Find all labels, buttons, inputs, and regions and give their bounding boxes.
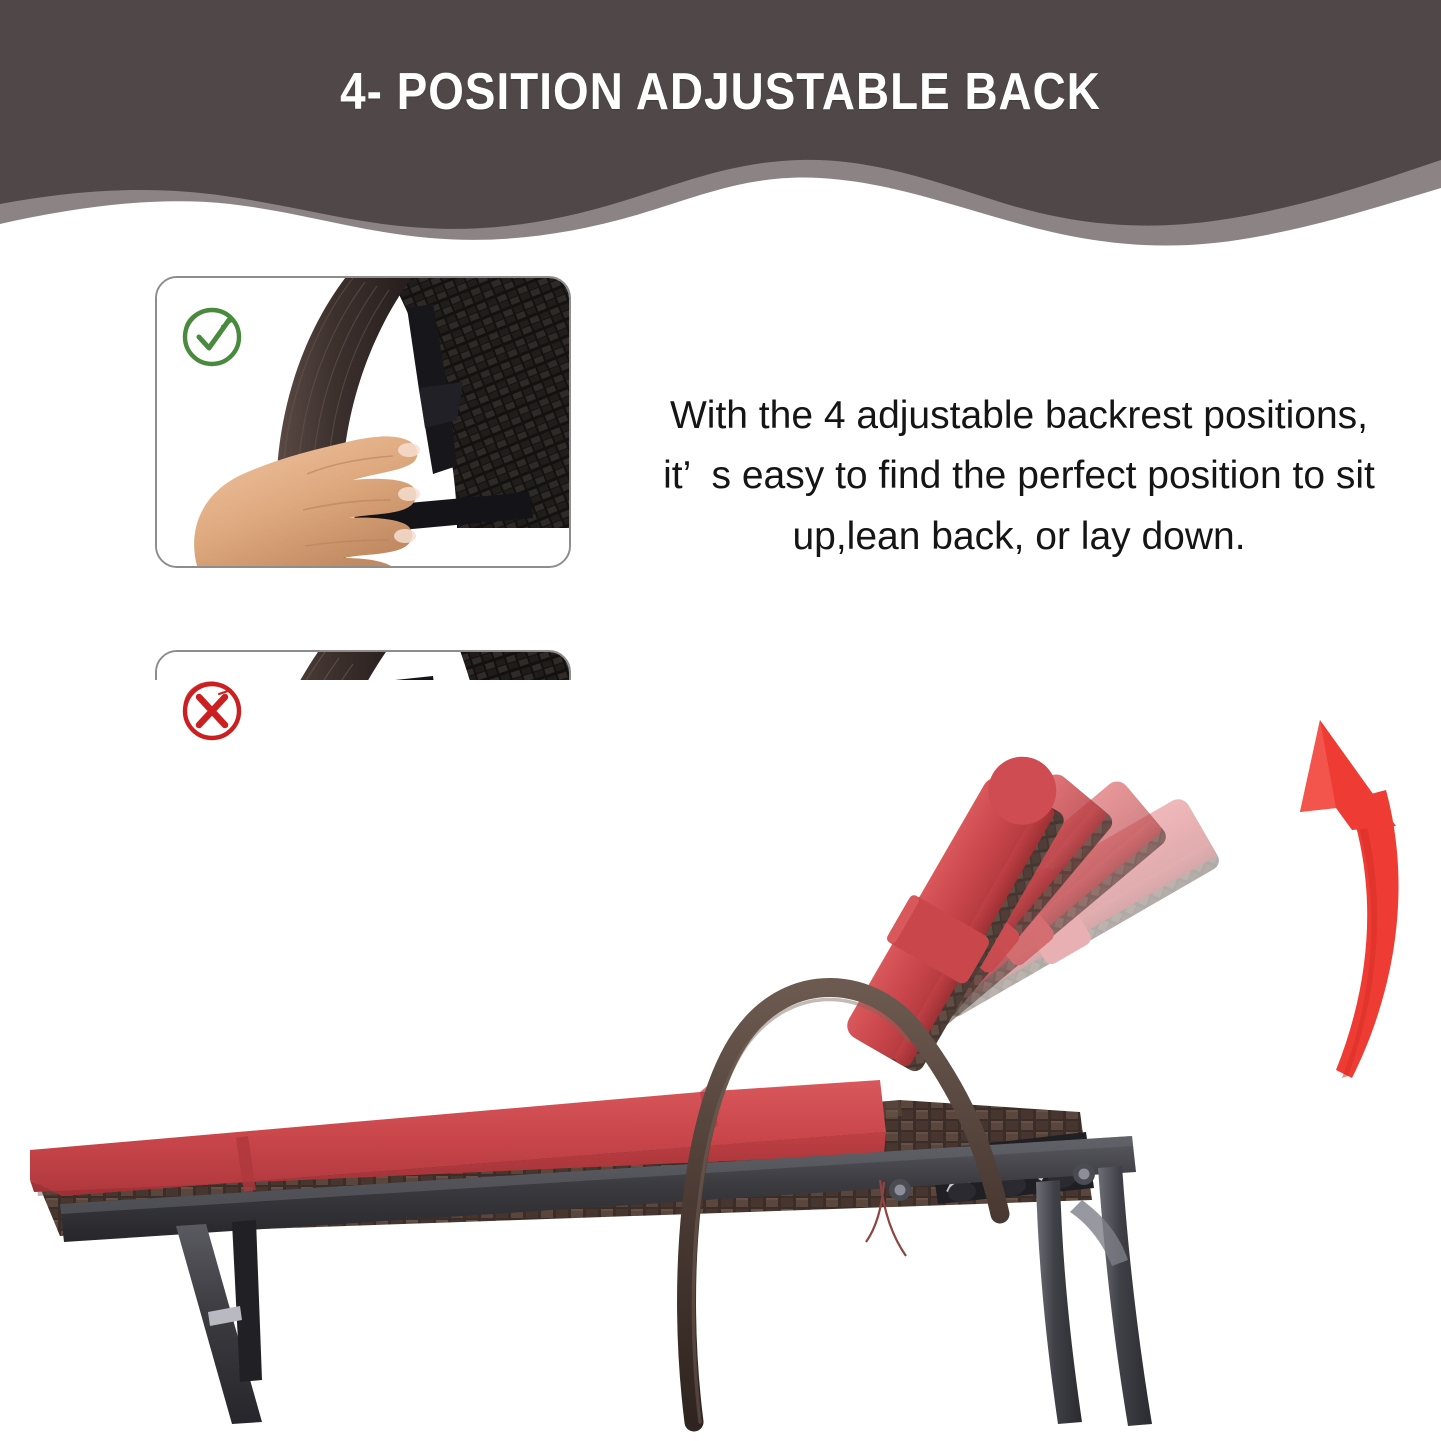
inset-panel-correct <box>155 276 571 568</box>
description-line-1: With the 4 adjustable backrest positions… <box>628 386 1410 446</box>
cross-badge-icon <box>175 674 249 748</box>
description-text: With the 4 adjustable backrest positions… <box>628 386 1410 567</box>
check-badge-icon <box>175 300 249 374</box>
page-title: 4- POSITION ADJUSTABLE BACK <box>86 62 1354 122</box>
description-line-2: it’ s easy to find the perfect position … <box>628 446 1410 506</box>
infographic-page: 4- POSITION ADJUSTABLE BACK <box>0 0 1441 1441</box>
product-illustration <box>0 680 1441 1441</box>
description-line-3: up,lean back, or lay down. <box>628 507 1410 567</box>
header-banner: 4- POSITION ADJUSTABLE BACK <box>0 0 1441 260</box>
